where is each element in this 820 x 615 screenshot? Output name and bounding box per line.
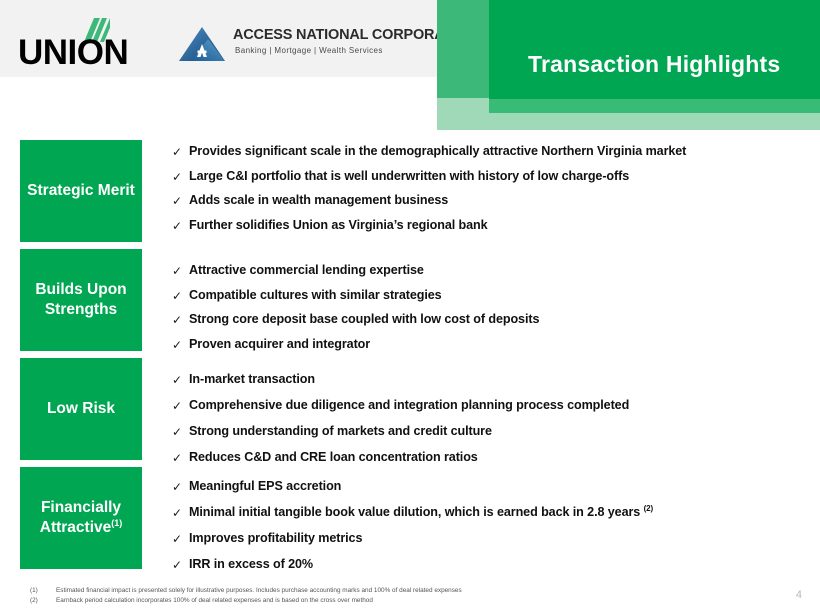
bullet-text: Meaningful EPS accretion <box>189 477 341 496</box>
bullet-item: ✓ Minimal initial tangible book value di… <box>172 503 810 522</box>
category-label-text: Strategic Merit <box>23 181 139 201</box>
banner-accent-mid <box>489 99 820 113</box>
bullet-text: Comprehensive due diligence and integrat… <box>189 396 629 415</box>
category-label-text: Low Risk <box>43 399 119 419</box>
bullet-list: ✓ Provides significant scale in the demo… <box>172 142 810 240</box>
checkmark-icon: ✓ <box>172 503 189 522</box>
bullet-list: ✓ In-market transaction ✓ Comprehensive … <box>172 370 810 474</box>
footnote-number: (2) <box>30 596 56 606</box>
category-label-superscript: (1) <box>111 518 122 528</box>
bullet-item: ✓ Attractive commercial lending expertis… <box>172 261 810 280</box>
union-logo: UNION <box>18 18 133 66</box>
slide-header-bar: UNION ACCESS NATIONAL CORPORATION Bankin… <box>0 0 437 77</box>
footnotes: (1) Estimated financial impact is presen… <box>30 586 730 606</box>
page-title: Transaction Highlights <box>528 51 780 78</box>
access-national-logo: ACCESS NATIONAL CORPORATION Banking | Mo… <box>178 24 403 64</box>
bullet-list: ✓ Meaningful EPS accretion ✓ Minimal ini… <box>172 477 810 581</box>
banner-accent-left <box>437 0 489 98</box>
footnote-item: (1) Estimated financial impact is presen… <box>30 586 730 596</box>
bullet-text-value: Attractive commercial lending expertise <box>189 263 424 277</box>
bullet-text: Strong core deposit base coupled with lo… <box>189 310 539 329</box>
bullet-item: ✓ Strong core deposit base coupled with … <box>172 310 810 329</box>
checkmark-icon: ✓ <box>172 142 189 161</box>
bullet-text: Minimal initial tangible book value dilu… <box>189 503 653 522</box>
page-number: 4 <box>796 589 802 601</box>
bullet-item: ✓ Strong understanding of markets and cr… <box>172 422 810 441</box>
bullet-item: ✓ Proven acquirer and integrator <box>172 335 810 354</box>
bullet-text: Large C&I portfolio that is well underwr… <box>189 167 629 186</box>
category-label-text: Builds Upon Strengths <box>20 280 142 320</box>
bullet-text: In-market transaction <box>189 370 315 389</box>
access-logo-subtitle: Banking | Mortgage | Wealth Services <box>235 46 383 55</box>
bullet-item: ✓ Reduces C&D and CRE loan concentration… <box>172 448 810 467</box>
bullet-text: Strong understanding of markets and cred… <box>189 422 492 441</box>
bullet-item: ✓ Meaningful EPS accretion <box>172 477 810 496</box>
bullet-text-value: Minimal initial tangible book value dilu… <box>189 505 640 519</box>
checkmark-icon: ✓ <box>172 555 189 574</box>
bullet-item: ✓ Adds scale in wealth management busine… <box>172 191 810 210</box>
category-label-low-risk: Low Risk <box>20 358 142 460</box>
footnote-item: (2) Earnback period calculation incorpor… <box>30 596 730 606</box>
checkmark-icon: ✓ <box>172 335 189 354</box>
checkmark-icon: ✓ <box>172 310 189 329</box>
bullet-item: ✓ In-market transaction <box>172 370 810 389</box>
bullet-list: ✓ Attractive commercial lending expertis… <box>172 261 810 359</box>
checkmark-icon: ✓ <box>172 286 189 305</box>
bullet-text: Improves profitability metrics <box>189 529 362 548</box>
footnote-text: Earnback period calculation incorporates… <box>56 596 373 606</box>
banner-accent-stub <box>437 98 489 130</box>
category-label-value: Builds Upon Strengths <box>35 281 126 318</box>
checkmark-icon: ✓ <box>172 529 189 548</box>
checkmark-icon: ✓ <box>172 191 189 210</box>
bullet-text-value: Provides significant scale in the demogr… <box>189 144 686 158</box>
bullet-text-value: Strong core deposit base coupled with lo… <box>189 312 539 326</box>
checkmark-icon: ✓ <box>172 261 189 280</box>
bullet-item: ✓ Large C&I portfolio that is well under… <box>172 167 810 186</box>
highlight-row: Strategic Merit ✓ Provides significant s… <box>0 140 820 248</box>
bullet-text-value: In-market transaction <box>189 372 315 386</box>
banner-accent-pale <box>489 113 820 130</box>
footnote-text: Estimated financial impact is presented … <box>56 586 462 596</box>
bullet-text: Compatible cultures with similar strateg… <box>189 286 442 305</box>
bullet-text: Reduces C&D and CRE loan concentration r… <box>189 448 478 467</box>
highlight-row: Financially Attractive(1) ✓ Meaningful E… <box>0 467 820 575</box>
checkmark-icon: ✓ <box>172 448 189 467</box>
bullet-item: ✓ Provides significant scale in the demo… <box>172 142 810 161</box>
checkmark-icon: ✓ <box>172 370 189 389</box>
footnote-number: (1) <box>30 586 56 596</box>
checkmark-icon: ✓ <box>172 422 189 441</box>
bullet-text-value: Comprehensive due diligence and integrat… <box>189 398 629 412</box>
category-label-value: Low Risk <box>47 400 115 417</box>
bullet-text: Attractive commercial lending expertise <box>189 261 424 280</box>
bullet-text: IRR in excess of 20% <box>189 555 313 574</box>
bullet-text-value: Adds scale in wealth management business <box>189 193 448 207</box>
checkmark-icon: ✓ <box>172 167 189 186</box>
category-label-value: Strategic Merit <box>27 182 135 199</box>
highlight-row: Builds Upon Strengths ✓ Attractive comme… <box>0 249 820 357</box>
bullet-text-value: IRR in excess of 20% <box>189 557 313 571</box>
bullet-item: ✓ Comprehensive due diligence and integr… <box>172 396 810 415</box>
bullet-text: Proven acquirer and integrator <box>189 335 370 354</box>
category-label-text: Financially Attractive(1) <box>20 498 142 538</box>
access-triangle-a-icon <box>178 26 226 62</box>
bullet-text: Further solidifies Union as Virginia’s r… <box>189 216 488 235</box>
bullet-text-value: Proven acquirer and integrator <box>189 337 370 351</box>
bullet-item: ✓ Improves profitability metrics <box>172 529 810 548</box>
bullet-text-value: Large C&I portfolio that is well underwr… <box>189 169 629 183</box>
checkmark-icon: ✓ <box>172 216 189 235</box>
bullet-text-value: Further solidifies Union as Virginia’s r… <box>189 218 488 232</box>
bullet-text-value: Reduces C&D and CRE loan concentration r… <box>189 450 478 464</box>
bullet-text: Adds scale in wealth management business <box>189 191 448 210</box>
category-label-strategic-merit: Strategic Merit <box>20 140 142 242</box>
bullet-text-value: Improves profitability metrics <box>189 531 362 545</box>
category-label-builds-upon-strengths: Builds Upon Strengths <box>20 249 142 351</box>
bullet-item: ✓ Compatible cultures with similar strat… <box>172 286 810 305</box>
checkmark-icon: ✓ <box>172 396 189 415</box>
bullet-item: ✓ IRR in excess of 20% <box>172 555 810 574</box>
bullet-text: Provides significant scale in the demogr… <box>189 142 686 161</box>
highlights-section: Strategic Merit ✓ Provides significant s… <box>0 140 820 576</box>
bullet-item: ✓ Further solidifies Union as Virginia’s… <box>172 216 810 235</box>
category-label-value: Financially Attractive <box>40 499 121 536</box>
highlight-row: Low Risk ✓ In-market transaction ✓ Compr… <box>0 358 820 466</box>
bullet-text-value: Strong understanding of markets and cred… <box>189 424 492 438</box>
title-banner <box>489 0 820 99</box>
bullet-text-value: Meaningful EPS accretion <box>189 479 341 493</box>
bullet-superscript: (2) <box>644 504 653 513</box>
union-wordmark: UNION <box>18 35 128 70</box>
category-label-financially-attractive: Financially Attractive(1) <box>20 467 142 569</box>
checkmark-icon: ✓ <box>172 477 189 496</box>
bullet-text-value: Compatible cultures with similar strateg… <box>189 288 442 302</box>
